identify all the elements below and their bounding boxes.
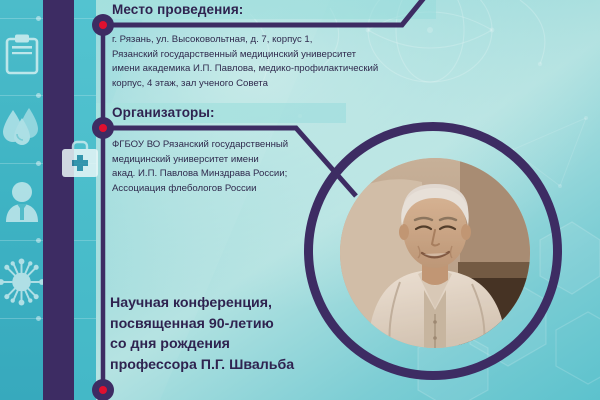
conference-poster: Место проведения: г. Рязань, ул. Высоков… — [0, 0, 600, 400]
headline-line: посвященная 90-летию — [110, 314, 294, 335]
venue-line: имени академика И.П. Павлова, медико-про… — [112, 62, 378, 77]
headline-line: со дня рождения — [110, 334, 294, 355]
organizers-line: акад. И.П. Павлова Минздрава России; — [112, 167, 288, 182]
node-marker-organizers — [92, 117, 114, 139]
organizers-line: медицинский университет имени — [112, 153, 288, 168]
venue-line: г. Рязань, ул. Высоковольтная, д. 7, кор… — [112, 33, 378, 48]
node-marker-headline — [92, 379, 114, 400]
node-marker-venue — [92, 14, 114, 36]
organizers-heading: Организаторы: — [112, 105, 215, 120]
headline-line: Научная конференция, — [110, 293, 294, 314]
organizers-line: Ассоциация флебологов России — [112, 182, 288, 197]
venue-line: корпус, 4 этаж, зал ученого Совета — [112, 77, 378, 92]
organizers-line: ФГБОУ ВО Рязанский государственный — [112, 138, 288, 153]
professor-portrait — [340, 158, 530, 348]
venue-heading: Место проведения: — [112, 2, 243, 17]
conference-headline: Научная конференция, посвященная 90-лети… — [110, 293, 294, 376]
organizers-body: ФГБОУ ВО Рязанский государственный медиц… — [112, 138, 288, 196]
headline-line: профессора П.Г. Швальба — [110, 355, 294, 376]
venue-line: Рязанский государственный медицинский ун… — [112, 48, 378, 63]
venue-body: г. Рязань, ул. Высоковольтная, д. 7, кор… — [112, 33, 378, 91]
